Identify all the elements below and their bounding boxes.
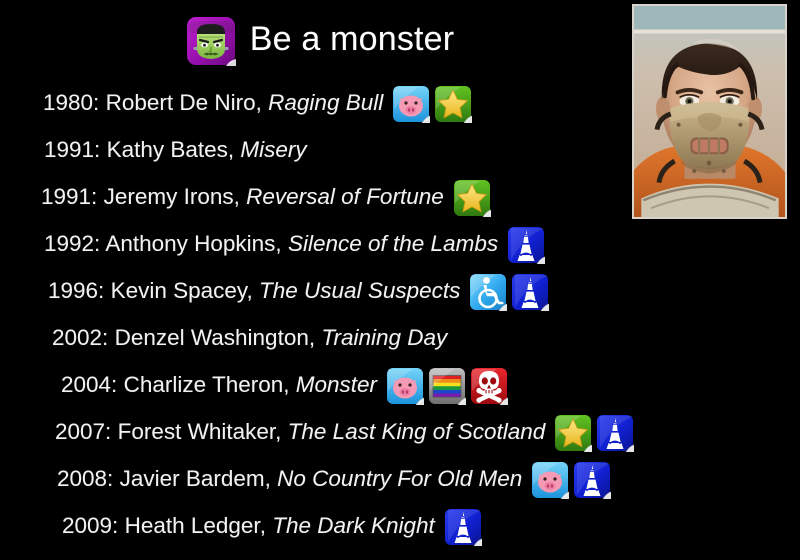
award-row-text: 2002: Denzel Washington, Training Day — [52, 327, 447, 350]
skull-crossbones-icon — [470, 367, 508, 405]
eiffel-tower-icon — [511, 273, 549, 311]
award-film-title: Monster — [296, 372, 377, 397]
award-year: 2007: — [55, 419, 111, 444]
award-row: 1992: Anthony Hopkins, Silence of the La… — [0, 221, 800, 268]
award-row-icons — [507, 226, 545, 264]
slide-header: Be a monster — [0, 0, 640, 78]
award-row-icons — [469, 273, 549, 311]
wheelchair-icon — [469, 273, 507, 311]
award-row-text: 1991: Kathy Bates, Misery — [44, 139, 307, 162]
star-icon — [434, 85, 472, 123]
award-year: 2009: — [62, 513, 118, 538]
award-row: 2004: Charlize Theron, Monster — [0, 362, 800, 409]
award-actor: Anthony Hopkins, — [105, 231, 281, 256]
award-film-title: The Last King of Scotland — [288, 419, 546, 444]
award-row-text: 1992: Anthony Hopkins, Silence of the La… — [44, 233, 498, 256]
rainbow-flag-icon — [428, 367, 466, 405]
award-row: 1991: Kathy Bates, Misery — [0, 127, 800, 174]
page-title: Be a monster — [250, 22, 455, 56]
award-year: 1996: — [48, 278, 104, 303]
award-film-title: No Country For Old Men — [277, 466, 522, 491]
award-row: 1996: Kevin Spacey, The Usual Suspects — [0, 268, 800, 315]
award-row-text: 1991: Jeremy Irons, Reversal of Fortune — [41, 186, 444, 209]
star-icon — [554, 414, 592, 452]
award-row-icons — [453, 179, 491, 217]
award-row-text: 2004: Charlize Theron, Monster — [61, 374, 377, 397]
award-actor: Forest Whitaker, — [118, 419, 282, 444]
eiffel-tower-icon — [596, 414, 634, 452]
frankenstein-monster-icon — [186, 16, 236, 66]
award-row: 2007: Forest Whitaker, The Last King of … — [0, 409, 800, 456]
award-row-icons — [386, 367, 508, 405]
award-film-title: The Usual Suspects — [259, 278, 460, 303]
award-actor: Kathy Bates, — [107, 137, 235, 162]
award-year: 2008: — [57, 466, 113, 491]
award-row-icons — [554, 414, 634, 452]
award-film-title: Training Day — [321, 325, 447, 350]
pig-icon — [386, 367, 424, 405]
star-icon — [453, 179, 491, 217]
award-row-text: 2008: Javier Bardem, No Country For Old … — [57, 468, 522, 491]
award-actor: Kevin Spacey, — [111, 278, 253, 303]
eiffel-tower-icon — [573, 461, 611, 499]
award-actor: Robert De Niro, — [106, 90, 262, 115]
award-row-text: 2007: Forest Whitaker, The Last King of … — [55, 421, 545, 444]
award-row: 2009: Heath Ledger, The Dark Knight — [0, 503, 800, 550]
award-film-title: Reversal of Fortune — [246, 184, 444, 209]
award-row: 2002: Denzel Washington, Training Day — [0, 315, 800, 362]
award-film-title: Silence of the Lambs — [288, 231, 498, 256]
award-actor: Jeremy Irons, — [104, 184, 240, 209]
award-row-text: 2009: Heath Ledger, The Dark Knight — [62, 515, 435, 538]
eiffel-tower-icon — [444, 508, 482, 546]
awards-list: 1980: Robert De Niro, Raging Bull1991: K… — [0, 80, 800, 550]
award-actor: Charlize Theron, — [124, 372, 290, 397]
award-row-text: 1996: Kevin Spacey, The Usual Suspects — [48, 280, 460, 303]
award-row-icons — [392, 85, 472, 123]
award-row-text: 1980: Robert De Niro, Raging Bull — [43, 92, 383, 115]
pig-icon — [392, 85, 430, 123]
pig-icon — [531, 461, 569, 499]
award-film-title: Misery — [240, 137, 306, 162]
award-row: 1991: Jeremy Irons, Reversal of Fortune — [0, 174, 800, 221]
award-year: 2004: — [61, 372, 117, 397]
award-row-icons — [531, 461, 611, 499]
award-year: 1991: — [44, 137, 100, 162]
award-row-icons — [444, 508, 482, 546]
award-actor: Heath Ledger, — [125, 513, 266, 538]
award-row: 1980: Robert De Niro, Raging Bull — [0, 80, 800, 127]
award-year: 1991: — [41, 184, 97, 209]
award-year: 1980: — [43, 90, 99, 115]
award-film-title: The Dark Knight — [272, 513, 435, 538]
award-film-title: Raging Bull — [268, 90, 383, 115]
award-year: 2002: — [52, 325, 108, 350]
award-actor: Denzel Washington, — [115, 325, 316, 350]
eiffel-tower-icon — [507, 226, 545, 264]
award-actor: Javier Bardem, — [120, 466, 271, 491]
award-year: 1992: — [44, 231, 100, 256]
award-row: 2008: Javier Bardem, No Country For Old … — [0, 456, 800, 503]
